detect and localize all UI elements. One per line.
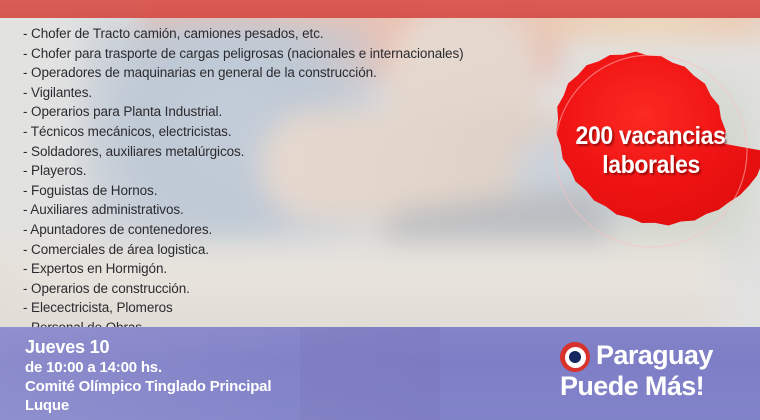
list-item: - Operarios para Planta Industrial. [23, 102, 543, 122]
event-details: Jueves 10 de 10:00 a 14:00 hs. Comité Ol… [25, 337, 271, 415]
vacancy-count-seal: 200 vacancias laborales [533, 33, 760, 269]
list-item: - Auxiliares administrativos. [23, 200, 543, 220]
list-item: - Playeros. [23, 161, 543, 181]
top-red-band [0, 0, 760, 18]
list-item: - Apuntadores de contenedores. [23, 220, 543, 240]
roundel-navy-core [569, 351, 581, 363]
paraguay-puede-mas-logo: Paraguay Puede Más! [560, 340, 713, 402]
list-item: - Comerciales de área logistica. [23, 240, 543, 260]
brand-line-2: Puede Más! [560, 371, 713, 402]
job-vacancy-list: - Chofer de Tracto camión, camiones pesa… [23, 24, 543, 357]
list-item: - Operarios de construcción. [23, 279, 543, 299]
list-item: - Expertos en Hormigón. [23, 259, 543, 279]
roundel-white-ring [565, 347, 586, 368]
list-item: - Chofer de Tracto camión, camiones pesa… [23, 24, 543, 44]
event-city: Luque [25, 396, 271, 415]
list-item: - Elecectricista, Plomeros [23, 298, 543, 318]
list-item: - Foguistas de Hornos. [23, 181, 543, 201]
list-item: - Chofer para trasporte de cargas peligr… [23, 44, 543, 64]
roundel-icon [560, 342, 590, 372]
brand-text-block: Paraguay Puede Más! [596, 340, 713, 402]
list-item: - Operadores de maquinarias en general d… [23, 63, 543, 83]
band-texture-center [300, 327, 440, 420]
list-item: - Técnicos mecánicos, electricistas. [23, 122, 543, 142]
job-fair-poster: - Chofer de Tracto camión, camiones pesa… [0, 0, 760, 420]
list-item: - Soldadores, auxiliares metalúrgicos. [23, 142, 543, 162]
brand-line-1: Paraguay [596, 340, 713, 371]
event-venue: Comité Olímpico Tinglado Principal [25, 377, 271, 396]
seal-scallop-icon [533, 33, 760, 269]
event-day: Jueves 10 [25, 337, 271, 358]
list-item: - Vigilantes. [23, 83, 543, 103]
event-time: de 10:00 a 14:00 hs. [25, 358, 271, 377]
